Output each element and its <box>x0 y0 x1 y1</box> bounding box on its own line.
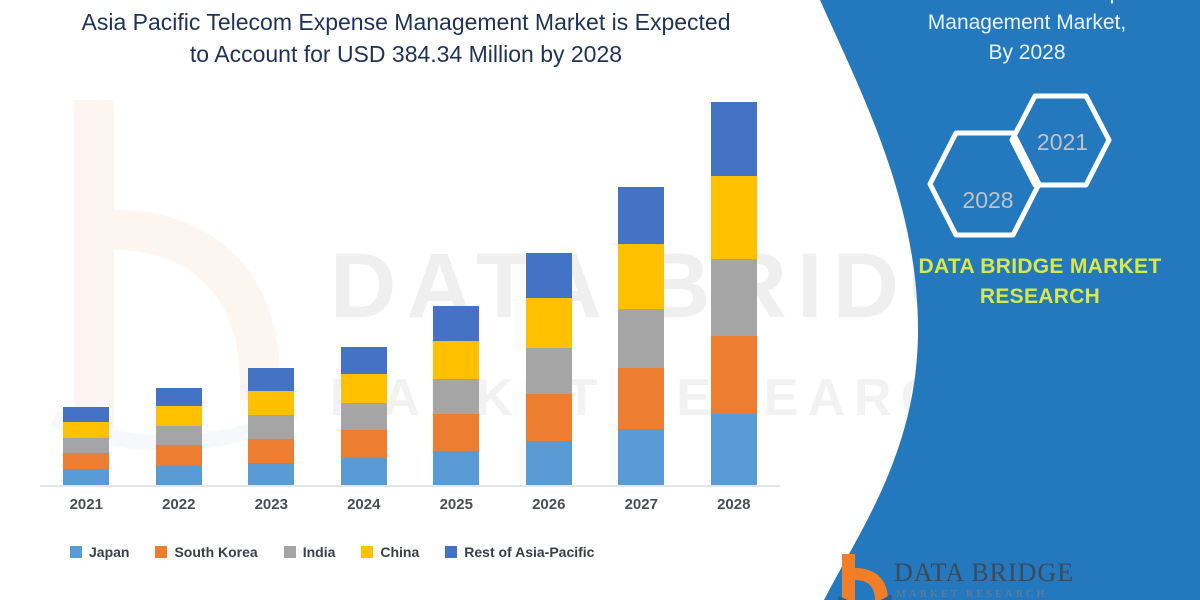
stacked-bar-2025 <box>433 306 479 485</box>
bar-slot <box>688 100 781 485</box>
legend-swatch-icon <box>70 546 82 558</box>
bar-segment-india <box>711 259 757 336</box>
stacked-bar-2022 <box>156 388 202 485</box>
chart-legend: JapanSouth KoreaIndiaChinaRest of Asia-P… <box>70 540 770 564</box>
x-axis-label-2024: 2024 <box>318 496 411 513</box>
footer-logo-tagline: MARKET RESEARCH <box>896 588 1047 600</box>
hexagon-badge-2028: 2028 <box>925 129 1043 239</box>
footer-bridge-logo-icon <box>838 554 892 600</box>
bar-segment-china <box>341 374 387 403</box>
bar-segment-japan <box>526 441 572 485</box>
bar-segment-china <box>63 422 109 438</box>
legend-swatch-icon <box>284 546 296 558</box>
bar-segment-japan <box>63 469 109 485</box>
bar-segment-india <box>156 426 202 445</box>
legend-item-china[interactable]: China <box>361 544 419 560</box>
x-axis-label-2025: 2025 <box>410 496 503 513</box>
bar-segment-japan <box>156 466 202 485</box>
legend-swatch-icon <box>155 546 167 558</box>
bar-slot <box>133 100 226 485</box>
footer-logo: DATA BRIDGE MARKET RESEARCH <box>838 552 1178 600</box>
bar-segment-south-korea <box>711 336 757 414</box>
bar-segment-rest-of-asia-pacific <box>526 253 572 298</box>
x-axis-label-2028: 2028 <box>688 496 781 513</box>
brand-name: DATA BRIDGE MARKET RESEARCH <box>880 252 1200 312</box>
bar-segment-japan <box>618 429 664 485</box>
legend-item-india[interactable]: India <box>284 544 336 560</box>
brand-name-line-1: DATA BRIDGE MARKET <box>919 255 1162 278</box>
bar-segment-japan <box>433 451 479 485</box>
bar-group <box>40 100 780 485</box>
bar-segment-rest-of-asia-pacific <box>156 388 202 406</box>
bar-segment-japan <box>248 463 294 485</box>
bar-segment-south-korea <box>526 394 572 441</box>
bar-slot <box>410 100 503 485</box>
legend-item-south-korea[interactable]: South Korea <box>155 544 257 560</box>
hexagon-badge-2028-label: 2028 <box>929 145 1047 255</box>
infographic-canvas: DATA BRIDGE MARKET RESEARCH Asia Pacific… <box>0 0 1200 600</box>
bar-segment-rest-of-asia-pacific <box>711 102 757 176</box>
bar-segment-china <box>248 391 294 416</box>
bar-segment-india <box>63 438 109 453</box>
bar-segment-south-korea <box>248 439 294 463</box>
bar-segment-south-korea <box>156 445 202 465</box>
x-axis-labels: 20212022202320242025202620272028 <box>40 496 780 513</box>
x-axis-label-2021: 2021 <box>40 496 133 513</box>
panel-heading-clipped-line: Asia Pacific Telecom Expense <box>862 0 1192 8</box>
legend-label: China <box>380 544 419 560</box>
bar-slot <box>595 100 688 485</box>
bar-segment-south-korea <box>618 368 664 429</box>
legend-swatch-icon <box>361 546 373 558</box>
x-axis-label-2022: 2022 <box>133 496 226 513</box>
bar-segment-india <box>341 403 387 431</box>
stacked-bar-2027 <box>618 187 664 485</box>
stacked-bar-2024 <box>341 347 387 485</box>
legend-label: South Korea <box>174 544 257 560</box>
hexagon-badges: 2021 2028 <box>925 92 1115 222</box>
bar-segment-china <box>526 298 572 348</box>
bar-segment-china <box>618 244 664 308</box>
legend-item-rest-of-asia-pacific[interactable]: Rest of Asia-Pacific <box>445 544 594 560</box>
bar-segment-india <box>433 379 479 414</box>
bar-segment-china <box>711 176 757 259</box>
legend-label: India <box>303 544 336 560</box>
x-axis-label-2026: 2026 <box>503 496 596 513</box>
bar-segment-japan <box>711 414 757 485</box>
bar-slot <box>225 100 318 485</box>
bar-segment-rest-of-asia-pacific <box>433 306 479 340</box>
stacked-bar-2028 <box>711 102 757 485</box>
bar-slot <box>40 100 133 485</box>
panel-heading-line-3: By 2028 <box>862 38 1192 68</box>
bar-segment-japan <box>341 458 387 485</box>
x-axis-line <box>40 485 780 487</box>
bar-segment-china <box>433 341 479 379</box>
stacked-bar-2026 <box>526 253 572 485</box>
stacked-bar-chart: 20212022202320242025202620272028 JapanSo… <box>0 0 800 600</box>
stacked-bar-2023 <box>248 368 294 485</box>
bar-segment-rest-of-asia-pacific <box>618 187 664 245</box>
footer-logo-name: DATA BRIDGE <box>894 558 1074 588</box>
bar-slot <box>503 100 596 485</box>
panel-heading: Asia Pacific Telecom Expense Management … <box>862 0 1192 68</box>
bar-segment-india <box>526 348 572 394</box>
legend-item-japan[interactable]: Japan <box>70 544 129 560</box>
legend-label: Rest of Asia-Pacific <box>464 544 594 560</box>
x-axis-label-2027: 2027 <box>595 496 688 513</box>
bar-segment-rest-of-asia-pacific <box>341 347 387 374</box>
stacked-bar-2021 <box>63 407 109 485</box>
bar-segment-rest-of-asia-pacific <box>248 368 294 390</box>
bar-segment-south-korea <box>341 430 387 458</box>
bar-segment-rest-of-asia-pacific <box>63 407 109 422</box>
bar-segment-china <box>156 406 202 426</box>
bar-slot <box>318 100 411 485</box>
bar-segment-india <box>248 415 294 439</box>
bar-segment-south-korea <box>63 453 109 469</box>
legend-swatch-icon <box>445 546 457 558</box>
bar-segment-south-korea <box>433 414 479 450</box>
panel-heading-line-2: Management Market, <box>862 8 1192 38</box>
legend-label: Japan <box>89 544 129 560</box>
bar-segment-india <box>618 309 664 369</box>
brand-name-line-2: RESEARCH <box>980 285 1100 308</box>
x-axis-label-2023: 2023 <box>225 496 318 513</box>
